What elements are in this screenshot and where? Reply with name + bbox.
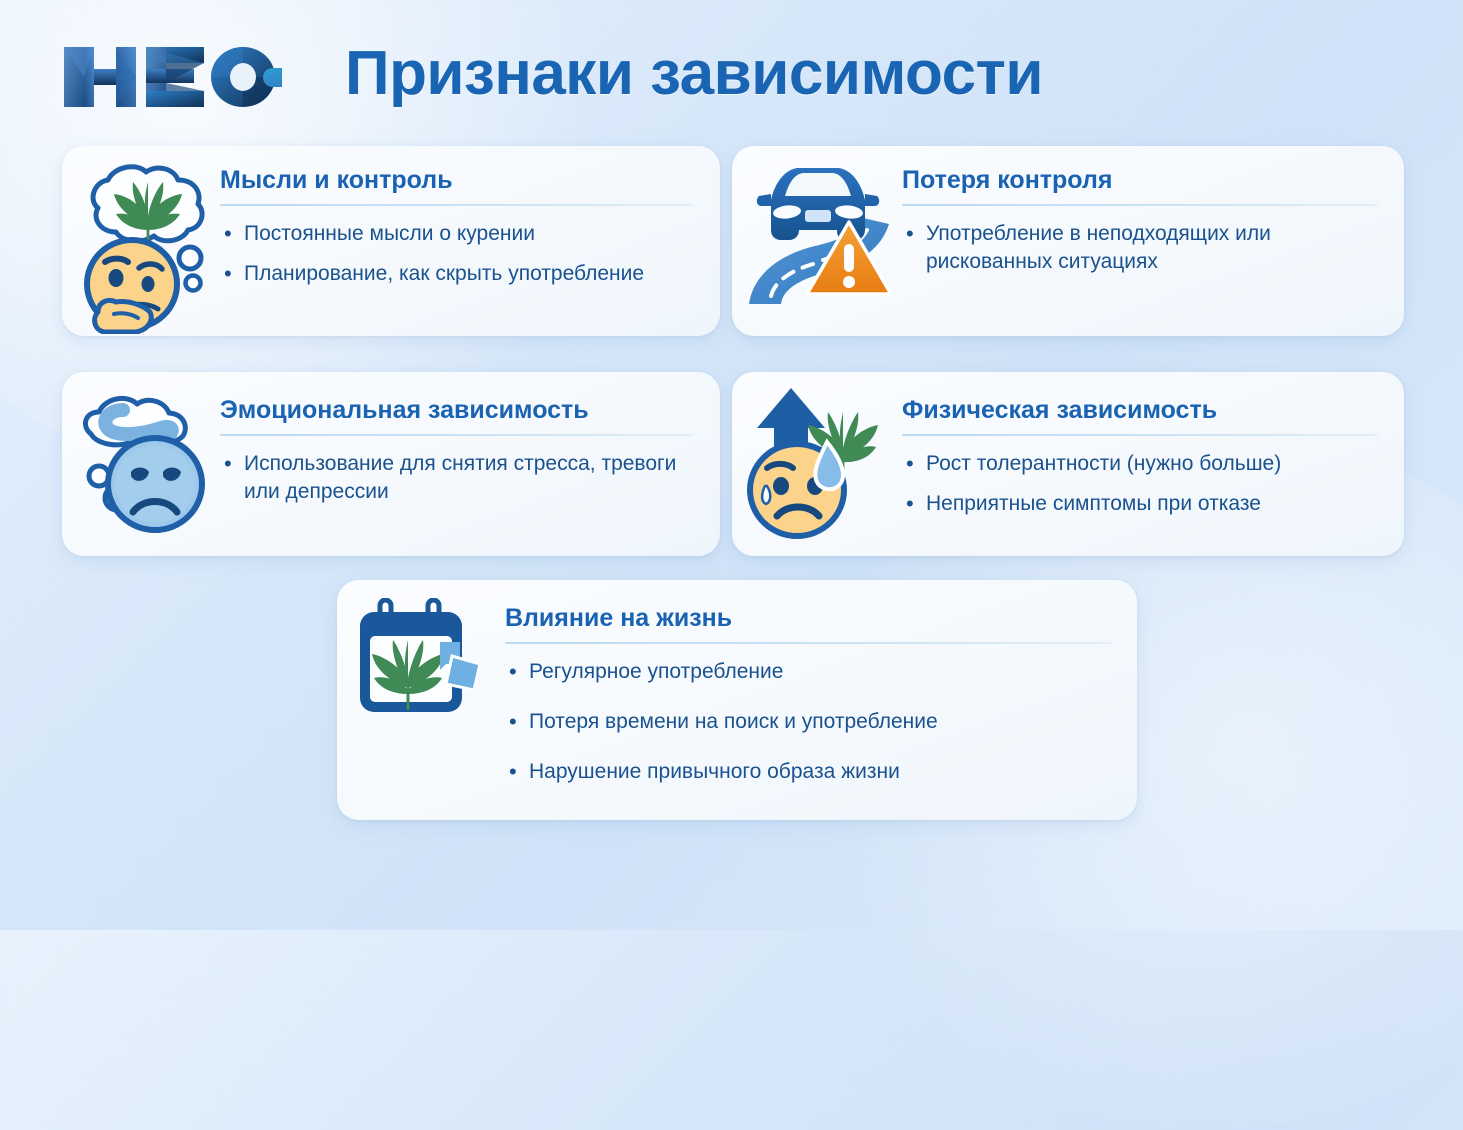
- sad-face-thought-bubble-icon: [69, 388, 213, 536]
- card-body: Влияние на жизнь Регулярное употребление…: [505, 580, 1137, 808]
- list-item: Постоянные мысли о курении: [220, 220, 694, 248]
- title-divider: [505, 642, 1111, 644]
- neo-plus-logo: НЕО+: [60, 42, 282, 112]
- card-physical-dependence: Физическая зависимость Рост толерантност…: [732, 372, 1404, 556]
- card-body: Потеря контроля Употребление в неподходя…: [902, 146, 1404, 276]
- card-title: Потеря контроля: [902, 166, 1378, 195]
- card-body: Эмоциональная зависимость Использование …: [220, 372, 720, 506]
- card-title: Влияние на жизнь: [505, 604, 1111, 633]
- card-title: Физическая зависимость: [902, 396, 1378, 425]
- thinking-face-cannabis-thought-bubble-icon: [70, 162, 212, 334]
- card-title: Мысли и контроль: [220, 166, 694, 195]
- title-divider: [220, 204, 694, 206]
- up-arrow-cannabis-sweating-face-icon: [739, 380, 895, 540]
- list-item: Использование для снятия стресса, тревог…: [220, 450, 694, 506]
- card-title: Эмоциональная зависимость: [220, 396, 694, 425]
- icon-arrow-cannabis-sweating-face: [732, 372, 902, 540]
- bullet-list: Употребление в неподходящих или рискован…: [902, 220, 1378, 276]
- list-item: Нарушение привычного образа жизни: [505, 758, 1111, 786]
- title-divider: [902, 434, 1378, 436]
- bullet-list: Использование для снятия стресса, тревог…: [220, 450, 694, 506]
- icon-calendar-cannabis: [337, 580, 505, 718]
- card-thoughts-and-control: Мысли и контроль Постоянные мысли о куре…: [62, 146, 720, 336]
- car-road-warning-triangle-icon: [741, 162, 893, 312]
- card-emotional-dependence: Эмоциональная зависимость Использование …: [62, 372, 720, 556]
- calendar-cannabis-icon: [352, 598, 490, 718]
- card-body: Физическая зависимость Рост толерантност…: [902, 372, 1404, 518]
- bullet-list: Постоянные мысли о курении Планирование,…: [220, 220, 694, 288]
- list-item: Потеря времени на поиск и употребление: [505, 708, 1111, 736]
- title-divider: [902, 204, 1378, 206]
- card-life-impact: Влияние на жизнь Регулярное употребление…: [337, 580, 1137, 820]
- card-body: Мысли и контроль Постоянные мысли о куре…: [220, 146, 720, 288]
- neo-plus-logo-icon: [60, 41, 282, 113]
- icon-car-road-warning: [732, 146, 902, 312]
- title-divider: [220, 434, 694, 436]
- list-item: Планирование, как скрыть употребление: [220, 260, 694, 288]
- bullet-list: Рост толерантности (нужно больше) Неприя…: [902, 450, 1378, 518]
- page-header: НЕО+ Признаки зависимости: [0, 0, 1463, 140]
- page-title: Признаки зависимости: [345, 38, 1043, 109]
- bullet-list: Регулярное употребление Потеря времени н…: [505, 658, 1111, 786]
- icon-thinking-face-cannabis: [62, 146, 220, 334]
- list-item: Неприятные симптомы при отказе: [902, 490, 1378, 518]
- card-loss-of-control: Потеря контроля Употребление в неподходя…: [732, 146, 1404, 336]
- list-item: Рост толерантности (нужно больше): [902, 450, 1378, 478]
- icon-sad-face-thought-bubble: [62, 372, 220, 536]
- list-item: Употребление в неподходящих или рискован…: [902, 220, 1378, 276]
- list-item: Регулярное употребление: [505, 658, 1111, 686]
